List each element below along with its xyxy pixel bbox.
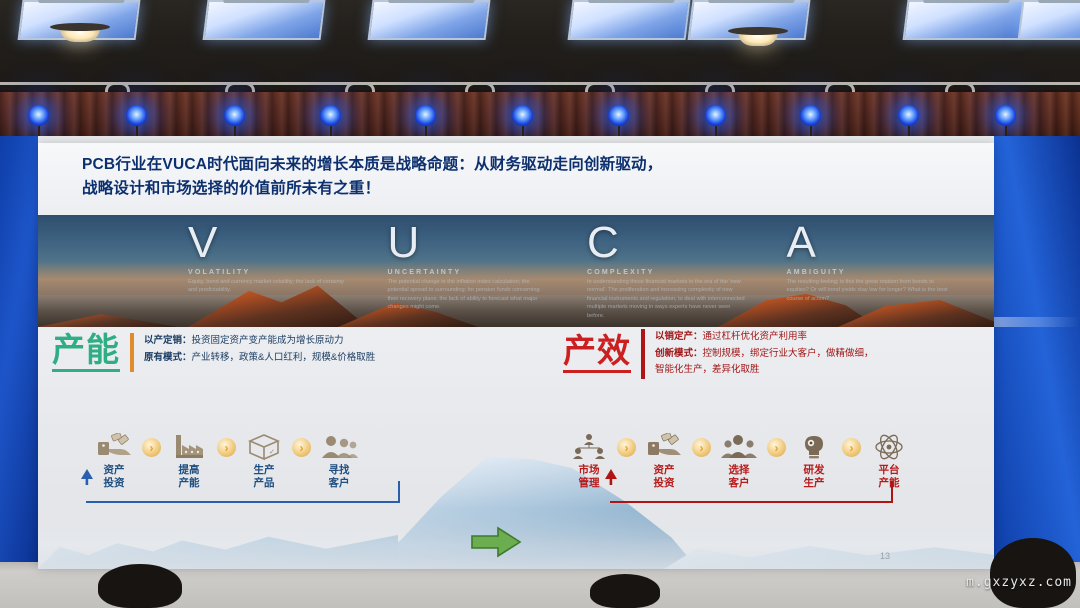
slide-page-number: 13 — [880, 551, 890, 561]
vuca-word: VOLATILITY — [188, 269, 350, 276]
capacity-line-1-label: 以产定销： — [144, 335, 192, 346]
audience-head — [990, 538, 1076, 608]
vuca-banner: V VOLATILITY Equity, bond and currency m… — [38, 215, 994, 327]
vuca-word: COMPLEXITY — [587, 269, 749, 276]
capacity-lines: 以产定销：投资固定资产变产能成为增长原动力 原有模式：产业转移，政策&人口红利，… — [144, 333, 375, 372]
factory-icon — [161, 431, 217, 461]
capacity-block: 产能 以产定销：投资固定资产变产能成为增长原动力 原有模式：产业转移，政策&人口… — [52, 333, 375, 372]
efficiency-line-1: 以销定产：通过杠杆优化资产利用率 — [655, 329, 874, 346]
efficiency-line-1-text: 通过杠杆优化资产利用率 — [703, 331, 808, 342]
brain-idea-icon — [786, 431, 842, 461]
blue-par-light — [224, 105, 245, 126]
ceiling-light-panel — [568, 0, 691, 40]
slide-title-line-1: PCB行业在VUCA时代面向未来的增长本质是战略命题：从财务驱动走向创新驱动， — [82, 153, 960, 177]
flow-label-line1: 选择 — [729, 464, 750, 476]
capacity-line-2-text: 产业转移，政策&人口红利，规模&价格取胜 — [192, 352, 376, 363]
blue-par-light — [28, 105, 49, 126]
efficiency-line-3: 智能化生产，差异化取胜 — [655, 362, 874, 379]
hand-cash-icon — [636, 431, 692, 461]
backdrop-panel-left — [0, 136, 38, 568]
chevron-right-icon: › — [692, 438, 711, 457]
vuca-body: Equity, bond and currency market volatil… — [188, 278, 350, 295]
capacity-line-1: 以产定销：投资固定资产变产能成为增长原动力 — [144, 333, 375, 350]
blue-par-light — [995, 105, 1016, 126]
vuca-column-uncertainty: U UNCERTAINTY The potential change in th… — [388, 221, 550, 321]
chevron-right-icon: › — [217, 438, 236, 457]
capacity-feedback-loop — [86, 481, 400, 503]
blue-par-light — [800, 105, 821, 126]
vuca-letter: C — [587, 221, 749, 265]
flow-label-line1: 生产 — [254, 464, 275, 476]
people-icon — [711, 431, 767, 461]
flow-label-line1: 寻找 — [329, 464, 350, 476]
chevron-right-icon: › — [842, 438, 861, 457]
audience-head — [98, 564, 182, 608]
blue-par-light — [320, 105, 341, 126]
vuca-letter: A — [787, 221, 949, 265]
vuca-word: AMBIGUITY — [787, 269, 949, 276]
chevron-right-icon: › — [292, 438, 311, 457]
efficiency-heading: 产效 — [563, 334, 631, 373]
vuca-body: In understanding these financial markets… — [587, 278, 749, 320]
blue-par-light — [512, 105, 533, 126]
efficiency-accent-bar — [641, 329, 645, 379]
blue-par-light — [898, 105, 919, 126]
atom-network-icon — [861, 431, 917, 461]
blue-par-light — [608, 105, 629, 126]
package-box-icon: ✓ — [236, 431, 292, 461]
vuca-columns: V VOLATILITY Equity, bond and currency m… — [188, 221, 948, 321]
flow-label-line1: 资产 — [654, 464, 675, 476]
capacity-accent-bar — [130, 333, 134, 372]
efficiency-loop-arrow-icon — [604, 469, 618, 485]
flow-label-line1: 平台 — [879, 464, 900, 476]
vuca-body: The potential change in the inflation in… — [388, 278, 550, 312]
presentation-slide: PCB行业在VUCA时代面向未来的增长本质是战略命题：从财务驱动走向创新驱动， … — [38, 143, 994, 569]
flow-label-line1: 市场 — [579, 464, 600, 476]
green-right-arrow-icon — [470, 526, 522, 558]
efficiency-line-2: 创新模式：控制规模，绑定行业大客户，做精做细， — [655, 346, 874, 363]
hand-cash-icon — [86, 431, 142, 461]
people-icon — [311, 431, 367, 461]
vuca-column-ambiguity: A AMBIGUITY The resulting feeling; is th… — [787, 221, 949, 321]
slide-title-bar: PCB行业在VUCA时代面向未来的增长本质是战略命题：从财务驱动走向创新驱动， … — [38, 143, 994, 215]
vuca-letter: V — [188, 221, 350, 265]
flow-label-line1: 资产 — [104, 464, 125, 476]
efficiency-block: 产效 以销定产：通过杠杆优化资产利用率 创新模式：控制规模，绑定行业大客户，做精… — [563, 329, 874, 379]
flow-label-line2: 管理 — [579, 477, 600, 489]
backdrop-panel-right — [994, 136, 1080, 568]
slide-title-line-2: 战略设计和市场选择的价值前所未有之重！ — [82, 177, 960, 201]
capacity-line-2-label: 原有模式： — [144, 352, 192, 363]
vuca-word: UNCERTAINTY — [388, 269, 550, 276]
ceiling-light-panel — [903, 0, 1026, 40]
vuca-letter: U — [388, 221, 550, 265]
blue-par-light — [705, 105, 726, 126]
chevron-right-icon: › — [617, 438, 636, 457]
chevron-right-icon: › — [142, 438, 161, 457]
capacity-line-2: 原有模式：产业转移，政策&人口红利，规模&价格取胜 — [144, 350, 375, 367]
site-watermark: m.gxzyxz.com — [966, 575, 1072, 590]
audience-head — [590, 574, 660, 608]
efficiency-line-2-text: 控制规模，绑定行业大客户，做精做细， — [703, 348, 874, 359]
blue-par-light — [126, 105, 147, 126]
flow-label-line1: 提高 — [179, 464, 200, 476]
ceiling-light-panel — [203, 0, 326, 40]
vuca-column-complexity: C COMPLEXITY In understanding these fina… — [587, 221, 749, 321]
svg-text:✓: ✓ — [269, 449, 275, 456]
mountain-silhouette — [38, 307, 178, 327]
blue-par-light — [415, 105, 436, 126]
ceiling-light-panel — [1018, 0, 1080, 40]
org-chart-icon — [561, 431, 617, 461]
capacity-heading: 产能 — [52, 333, 120, 372]
ceiling-light-panel — [368, 0, 491, 40]
capacity-line-1-text: 投资固定资产变产能成为增长原动力 — [192, 335, 344, 346]
flow-label-line1: 研发 — [804, 464, 825, 476]
efficiency-feedback-loop — [610, 481, 893, 503]
efficiency-lines: 以销定产：通过杠杆优化资产利用率 创新模式：控制规模，绑定行业大客户，做精做细，… — [655, 329, 874, 379]
vuca-body: The resulting feeling; is this the great… — [787, 278, 949, 303]
capacity-loop-arrow-icon — [80, 469, 94, 485]
efficiency-line-1-label: 以销定产： — [655, 331, 703, 342]
chevron-right-icon: › — [767, 438, 786, 457]
vuca-column-volatility: V VOLATILITY Equity, bond and currency m… — [188, 221, 350, 321]
efficiency-line-2-label: 创新模式： — [655, 348, 703, 359]
